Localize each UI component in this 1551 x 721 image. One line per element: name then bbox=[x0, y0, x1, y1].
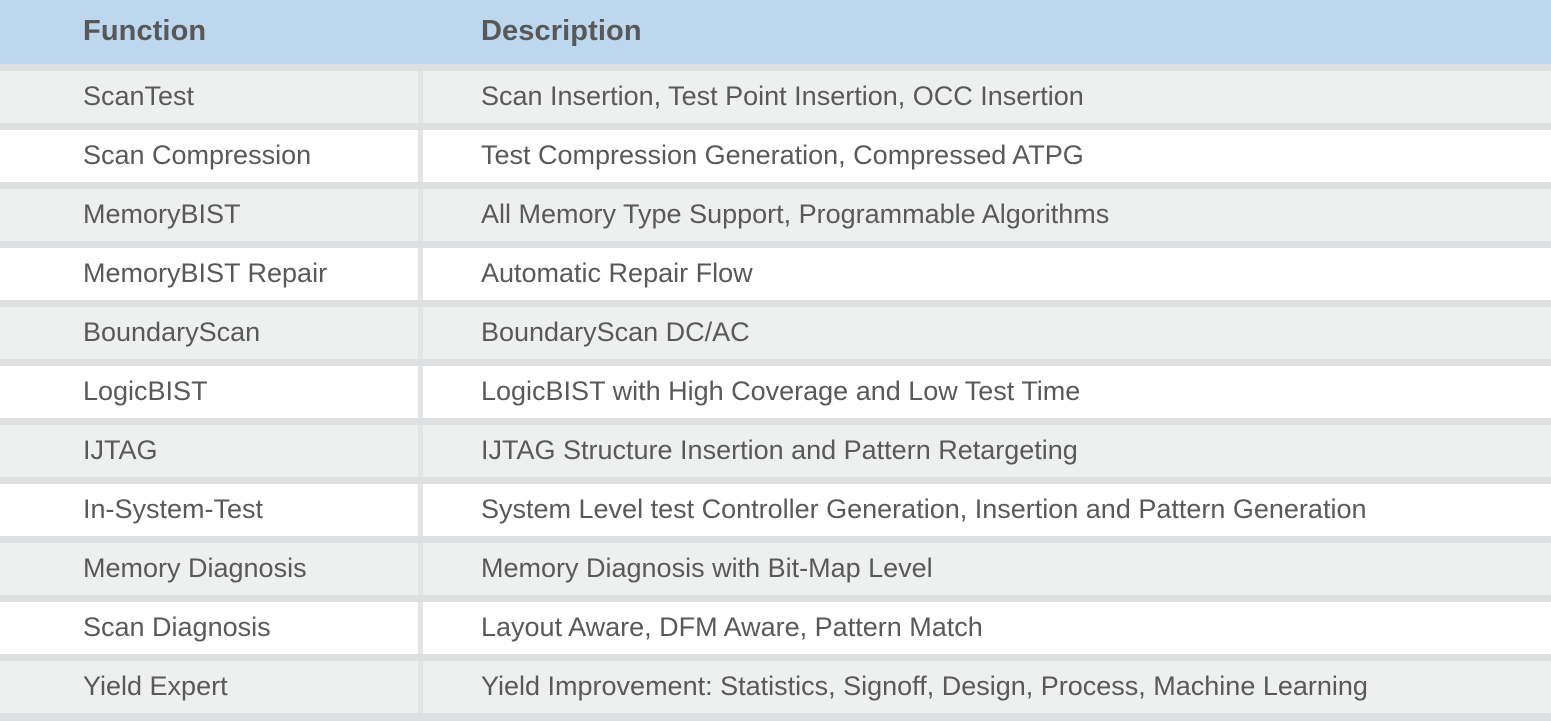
cell-function-text: BoundaryScan bbox=[0, 317, 418, 348]
row-separator bbox=[0, 536, 1551, 543]
row-separator-description bbox=[423, 477, 1551, 484]
header-separator-function bbox=[0, 64, 418, 71]
cell-function: Scan Compression bbox=[0, 130, 418, 182]
cell-description: System Level test Controller Generation,… bbox=[423, 484, 1551, 536]
table-body: ScanTest Scan Insertion, Test Point Inse… bbox=[0, 71, 1551, 721]
cell-function: In-System-Test bbox=[0, 484, 418, 536]
cell-function-text: MemoryBIST Repair bbox=[0, 258, 418, 289]
cell-function: ScanTest bbox=[0, 71, 418, 123]
table-row[interactable]: Scan Diagnosis Layout Aware, DFM Aware, … bbox=[0, 602, 1551, 654]
row-separator-function bbox=[0, 595, 418, 602]
cell-description-text: System Level test Controller Generation,… bbox=[423, 494, 1551, 525]
row-separator-function bbox=[0, 654, 418, 661]
dft-function-table-container: Function Description ScanTest Sc bbox=[0, 0, 1551, 720]
cell-description-text: Test Compression Generation, Compressed … bbox=[423, 140, 1551, 171]
header-separator-description bbox=[423, 64, 1551, 71]
cell-function-text: LogicBIST bbox=[0, 376, 418, 407]
row-separator-description bbox=[423, 418, 1551, 425]
table-row[interactable]: Scan Compression Test Compression Genera… bbox=[0, 130, 1551, 182]
cell-function-text: MemoryBIST bbox=[0, 199, 418, 230]
row-separator-description bbox=[423, 359, 1551, 366]
cell-description: Yield Improvement: Statistics, Signoff, … bbox=[423, 661, 1551, 713]
row-separator-description bbox=[423, 654, 1551, 661]
row-separator-description bbox=[423, 536, 1551, 543]
table-row[interactable]: LogicBIST LogicBIST with High Coverage a… bbox=[0, 366, 1551, 418]
row-separator bbox=[0, 241, 1551, 248]
cell-description-text: Memory Diagnosis with Bit-Map Level bbox=[423, 553, 1551, 584]
cell-function-text: Yield Expert bbox=[0, 671, 418, 702]
table-row[interactable]: MemoryBIST All Memory Type Support, Prog… bbox=[0, 189, 1551, 241]
cell-function: Yield Expert bbox=[0, 661, 418, 713]
cell-description-text: All Memory Type Support, Programmable Al… bbox=[423, 199, 1551, 230]
row-separator bbox=[0, 477, 1551, 484]
row-separator-description bbox=[423, 241, 1551, 248]
row-separator-function bbox=[0, 418, 418, 425]
cell-description-text: Scan Insertion, Test Point Insertion, OC… bbox=[423, 81, 1551, 112]
header-separator bbox=[0, 64, 1551, 71]
row-separator-description bbox=[423, 123, 1551, 130]
row-separator-description bbox=[423, 182, 1551, 189]
table-header: Function Description bbox=[0, 0, 1551, 71]
cell-function: BoundaryScan bbox=[0, 307, 418, 359]
row-separator bbox=[0, 182, 1551, 189]
row-separator-function bbox=[0, 123, 418, 130]
cell-function: Scan Diagnosis bbox=[0, 602, 418, 654]
row-separator-description bbox=[423, 300, 1551, 307]
row-separator-function bbox=[0, 477, 418, 484]
cell-description: Test Compression Generation, Compressed … bbox=[423, 130, 1551, 182]
cell-function-text: IJTAG bbox=[0, 435, 418, 466]
row-separator bbox=[0, 123, 1551, 130]
table-row[interactable]: Yield Expert Yield Improvement: Statisti… bbox=[0, 661, 1551, 713]
cell-function: MemoryBIST bbox=[0, 189, 418, 241]
cell-description-text: Layout Aware, DFM Aware, Pattern Match bbox=[423, 612, 1551, 643]
row-separator bbox=[0, 418, 1551, 425]
cell-description: Layout Aware, DFM Aware, Pattern Match bbox=[423, 602, 1551, 654]
cell-description: Memory Diagnosis with Bit-Map Level bbox=[423, 543, 1551, 595]
cell-description-text: IJTAG Structure Insertion and Pattern Re… bbox=[423, 435, 1551, 466]
row-separator bbox=[0, 300, 1551, 307]
table-row[interactable]: MemoryBIST Repair Automatic Repair Flow bbox=[0, 248, 1551, 300]
cell-description-text: Yield Improvement: Statistics, Signoff, … bbox=[423, 671, 1551, 702]
column-header-description: Description bbox=[423, 0, 1551, 64]
row-separator-function bbox=[0, 359, 418, 366]
cell-function-text: ScanTest bbox=[0, 81, 418, 112]
cell-function: MemoryBIST Repair bbox=[0, 248, 418, 300]
cell-description-text: Automatic Repair Flow bbox=[423, 258, 1551, 289]
cell-description: LogicBIST with High Coverage and Low Tes… bbox=[423, 366, 1551, 418]
table-row[interactable]: In-System-Test System Level test Control… bbox=[0, 484, 1551, 536]
row-separator bbox=[0, 359, 1551, 366]
cell-function-text: Scan Compression bbox=[0, 140, 418, 171]
cell-function-text: Scan Diagnosis bbox=[0, 612, 418, 643]
row-separator-description bbox=[423, 595, 1551, 602]
row-separator bbox=[0, 654, 1551, 661]
cell-function-text: Memory Diagnosis bbox=[0, 553, 418, 584]
row-separator-function bbox=[0, 300, 418, 307]
cell-function: Memory Diagnosis bbox=[0, 543, 418, 595]
cell-description-text: LogicBIST with High Coverage and Low Tes… bbox=[423, 376, 1551, 407]
row-separator-function bbox=[0, 241, 418, 248]
column-header-description-label: Description bbox=[423, 15, 1551, 48]
row-separator-function bbox=[0, 182, 418, 189]
cell-description-text: BoundaryScan DC/AC bbox=[423, 317, 1551, 348]
table-row[interactable]: IJTAG IJTAG Structure Insertion and Patt… bbox=[0, 425, 1551, 477]
header-row: Function Description bbox=[0, 0, 1551, 64]
cell-function: LogicBIST bbox=[0, 366, 418, 418]
function-description-table: Function Description ScanTest Sc bbox=[0, 0, 1551, 721]
cell-description: Scan Insertion, Test Point Insertion, OC… bbox=[423, 71, 1551, 123]
cell-description: Automatic Repair Flow bbox=[423, 248, 1551, 300]
row-separator-function bbox=[0, 536, 418, 543]
column-header-function-label: Function bbox=[0, 15, 418, 48]
cell-description: All Memory Type Support, Programmable Al… bbox=[423, 189, 1551, 241]
table-row[interactable]: Memory Diagnosis Memory Diagnosis with B… bbox=[0, 543, 1551, 595]
cell-description: BoundaryScan DC/AC bbox=[423, 307, 1551, 359]
table-row[interactable]: ScanTest Scan Insertion, Test Point Inse… bbox=[0, 71, 1551, 123]
cell-function-text: In-System-Test bbox=[0, 494, 418, 525]
column-header-function: Function bbox=[0, 0, 418, 64]
cell-description: IJTAG Structure Insertion and Pattern Re… bbox=[423, 425, 1551, 477]
row-separator bbox=[0, 595, 1551, 602]
cell-function: IJTAG bbox=[0, 425, 418, 477]
table-row[interactable]: BoundaryScan BoundaryScan DC/AC bbox=[0, 307, 1551, 359]
